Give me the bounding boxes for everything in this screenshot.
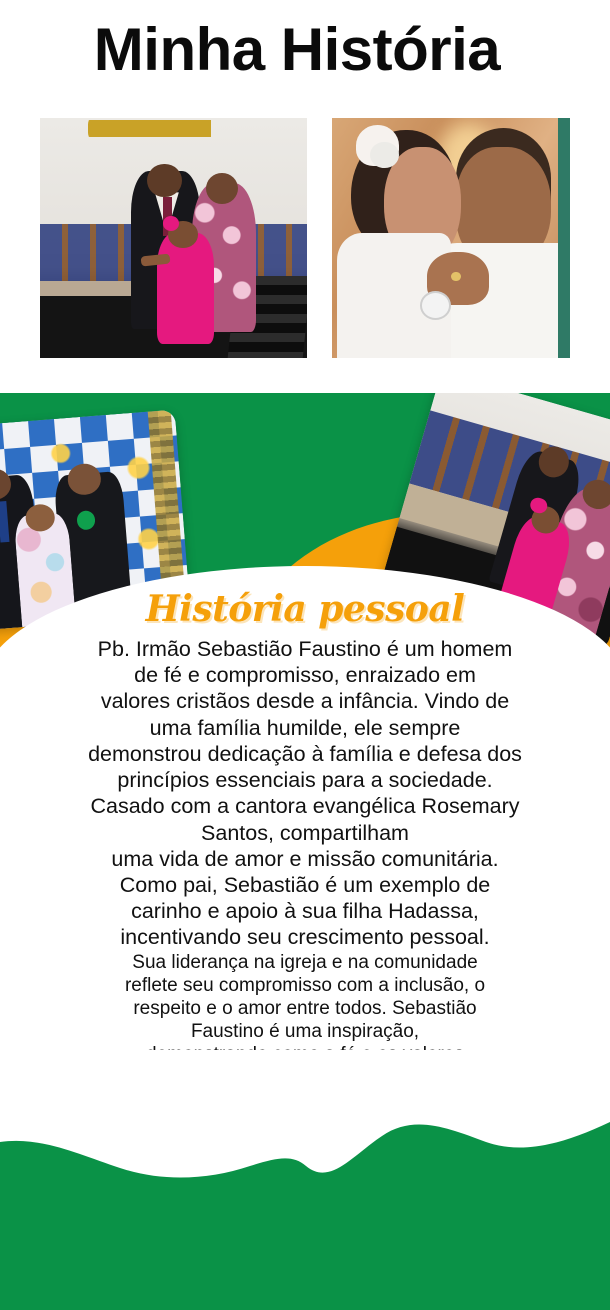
green-story-section: Homem de terno, menina e mulher posando …: [0, 393, 610, 1310]
section-heading: História pessoal: [22, 588, 588, 630]
photo-father-and-daughter: Pai e filha encostando as testas, sorrin…: [332, 118, 570, 358]
story-body-text: Pb. Irmão Sebastião Faustino é um homemd…: [22, 636, 588, 1113]
story-line: Sua liderança na igreja e na comunidade: [22, 951, 588, 974]
story-line: uma vida de amor e missão comunitária.: [22, 846, 588, 872]
poster-page: Minha História Homem de terno, menina de…: [0, 0, 610, 1310]
girl-pink-dress: [157, 233, 213, 343]
wedding-ring-icon: [451, 272, 461, 282]
story-line: Como pai, Sebastião é um exemplo de: [22, 872, 588, 898]
woman-head: [206, 173, 238, 204]
story-line: demonstrou dedicação à família e defesa …: [22, 741, 588, 767]
story-line: princípios essenciais para a sociedade.: [22, 767, 588, 793]
man-head: [147, 164, 182, 198]
girl-hair-bow: [163, 216, 179, 230]
wristwatch-icon: [420, 291, 451, 320]
page-title-wrapper: Minha História: [0, 0, 610, 100]
photo-father-and-daughter-content: [332, 118, 570, 358]
bottom-green-wave: [0, 1050, 610, 1310]
story-line: valores cristãos desde a infância. Vindo…: [22, 688, 588, 714]
story-line: Faustino é uma inspiração,: [22, 1020, 588, 1043]
story-line: uma família humilde, ele sempre: [22, 715, 588, 741]
story-line: Pb. Irmão Sebastião Faustino é um homem: [22, 636, 588, 662]
page-title: Minha História: [94, 20, 500, 80]
wall-decoration: [88, 120, 211, 137]
hair-bow-knot: [370, 142, 399, 168]
photo-family-at-church: Homem de terno, menina de vestido rosa e…: [40, 118, 307, 358]
story-line: Santos, compartilham: [22, 820, 588, 846]
story-line: respeito e o amor entre todos. Sebastião: [22, 997, 588, 1020]
story-line: Casado com a cantora evangélica Rosemary: [22, 793, 588, 819]
story-line: reflete seu compromisso com a inclusão, …: [22, 974, 588, 997]
story-line: carinho e apoio à sua filha Hadassa,: [22, 898, 588, 924]
photo-family-at-church-content: [40, 118, 307, 358]
story-line: incentivando seu crescimento pessoal.: [22, 924, 588, 950]
story-line: de fé e compromisso, enraizado em: [22, 662, 588, 688]
photo-edge-stripe: [558, 118, 570, 358]
